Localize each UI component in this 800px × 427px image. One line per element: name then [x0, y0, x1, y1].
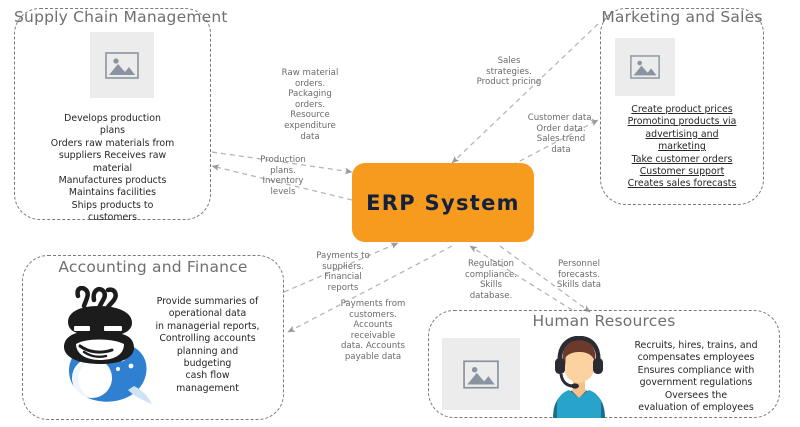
module-title-accounting-finance: Accounting and Finance [22, 258, 284, 276]
image-placeholder-icon [90, 32, 154, 98]
image-placeholder-icon-marketing [615, 38, 675, 96]
erp-system-diagram: Supply Chain Management Develops product… [0, 0, 800, 427]
image-placeholder-icon-hr [442, 338, 520, 410]
module-body-accounting-finance: Provide summaries of operational data in… [140, 296, 275, 395]
flow-label-marketing-to-erp: Customer data. Order data. Sales trend d… [518, 113, 604, 155]
module-title-marketing-sales: Marketing and Sales [600, 8, 764, 26]
support-agent-icon [543, 336, 615, 418]
flow-label-erp-to-hr: Personnel forecasts. Skills data [543, 259, 615, 291]
image-placeholder-glyph [630, 55, 660, 79]
module-title-human-resources: Human Resources [428, 312, 780, 330]
module-body-supply-chain: Develops production plans Orders raw mat… [14, 113, 211, 225]
flow-label-erp-to-accounting: Payments from customers. Accounts receiv… [330, 299, 416, 363]
flow-label-accounting-to-erp: Payments to suppliers. Financial reports [303, 251, 383, 293]
flow-label-hr-to-erp: Regulation compliance. Skills database. [453, 259, 529, 301]
module-body-marketing-sales: Create product prices Promoting products… [600, 104, 764, 191]
flow-label-erp-to-supply: Production plans. Inventory levels [243, 155, 323, 197]
image-placeholder-glyph [105, 52, 139, 79]
image-placeholder-glyph [463, 360, 499, 389]
erp-system-label: ERP System [366, 191, 520, 215]
flow-label-supply-to-erp: Raw material orders. Packaging orders. R… [262, 68, 358, 142]
module-title-supply-chain: Supply Chain Management [14, 8, 211, 26]
flow-label-erp-to-marketing: Sales strategies. Product pricing [464, 56, 554, 88]
module-body-human-resources: Recruits, hires, trains, and compensates… [620, 340, 772, 414]
erp-system-node[interactable]: ERP System [352, 163, 534, 242]
